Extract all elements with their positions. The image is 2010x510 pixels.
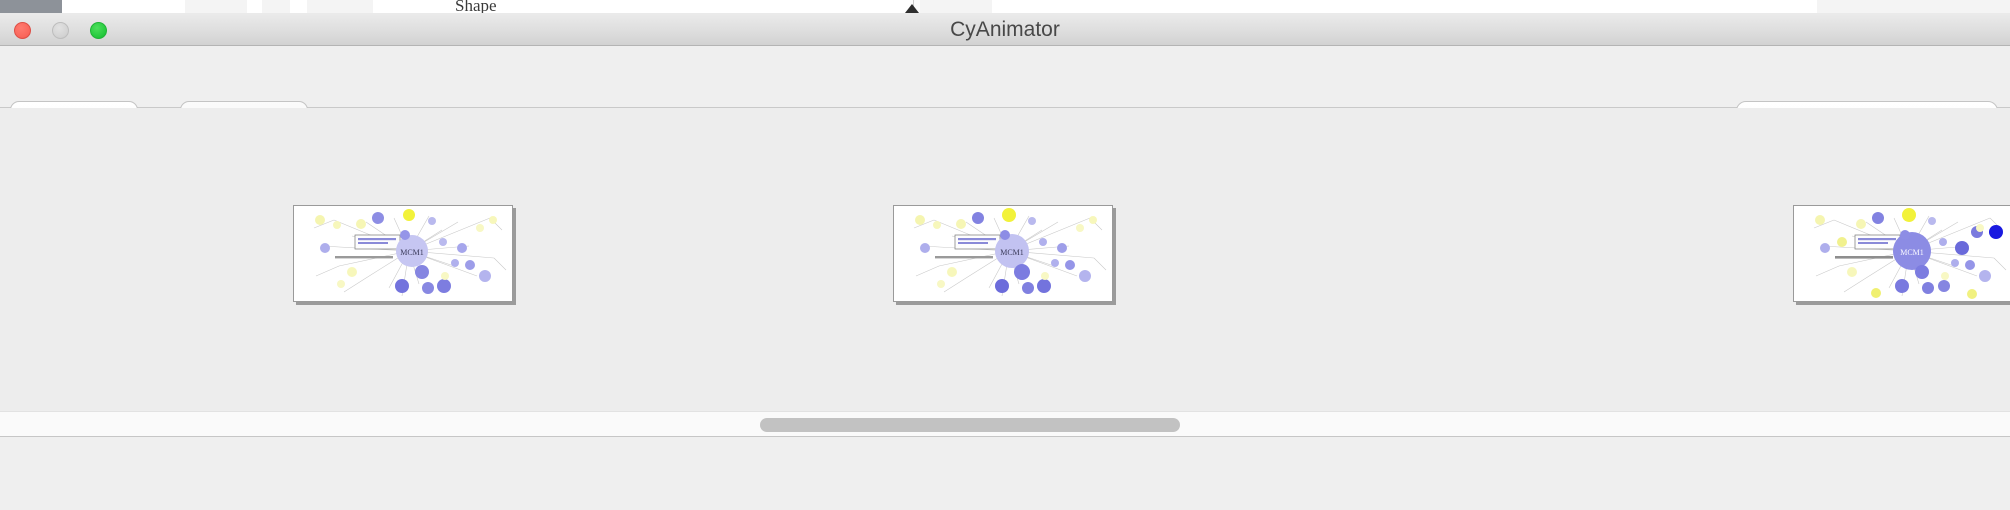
timeline-horizontal-scrollbar[interactable] — [0, 411, 2010, 437]
keyframe-thumbnail[interactable]: MCM1 — [1793, 205, 2010, 302]
keyframe-thumbnail[interactable]: MCM1 — [293, 205, 513, 302]
transport-bar: Animation Speed: — [0, 437, 2010, 510]
cyanimator-window: Shape CyAnimator Clear All Frames — [0, 0, 2010, 510]
svg-text:MCM1: MCM1 — [400, 248, 424, 257]
svg-text:MCM1: MCM1 — [1900, 248, 1924, 257]
background-desktop-strip: Shape — [0, 0, 2010, 13]
toolbar: Clear All Frames — [0, 46, 2010, 108]
timeline-panel[interactable]: MCM1 — [0, 108, 2010, 411]
scrollbar-thumb[interactable] — [760, 418, 1180, 432]
svg-text:MCM1: MCM1 — [1000, 248, 1024, 257]
title-bar: CyAnimator — [0, 13, 2010, 46]
window-title: CyAnimator — [0, 13, 2010, 46]
background-app-label: Shape — [455, 0, 497, 13]
keyframe-thumbnail[interactable]: MCM1 — [893, 205, 1113, 302]
